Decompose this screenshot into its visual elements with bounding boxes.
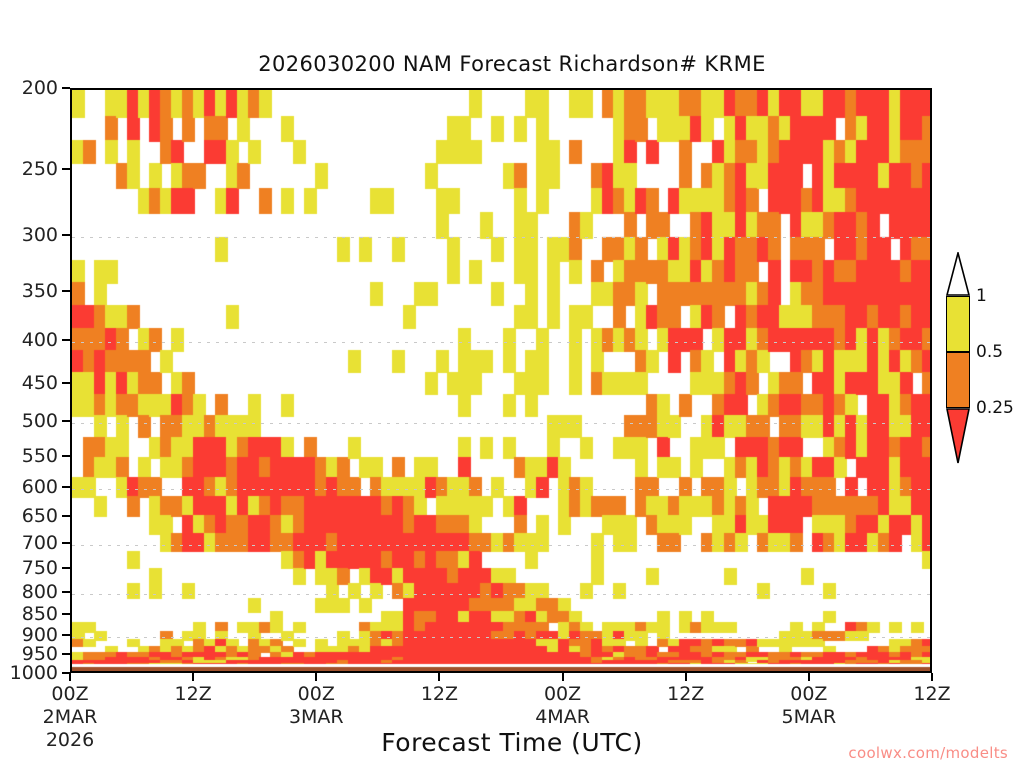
gridline bbox=[72, 594, 930, 595]
gridlines bbox=[72, 90, 930, 671]
y-tick-mark bbox=[62, 634, 70, 636]
y-tick-label: 350 bbox=[22, 280, 58, 302]
y-tick-label: 800 bbox=[22, 581, 58, 603]
y-tick-mark bbox=[62, 515, 70, 517]
y-tick-mark bbox=[62, 613, 70, 615]
x-tick-date: 4MAR bbox=[535, 706, 590, 728]
x-tick-label: 12Z bbox=[421, 683, 458, 705]
y-tick-mark bbox=[62, 168, 70, 170]
x-tick-mark bbox=[315, 673, 317, 681]
x-tick-mark bbox=[562, 673, 564, 681]
y-tick-label: 850 bbox=[22, 603, 58, 625]
x-tick-mark bbox=[438, 673, 440, 681]
y-axis: 2002503003504004505005506006507007508008… bbox=[0, 88, 70, 673]
x-tick-mark bbox=[69, 673, 71, 681]
y-tick-mark bbox=[62, 455, 70, 457]
colorbar-tick-label: 0.25 bbox=[976, 398, 1014, 418]
x-tick-mark bbox=[192, 673, 194, 681]
y-tick-mark bbox=[62, 542, 70, 544]
y-tick-label: 400 bbox=[22, 329, 58, 351]
y-tick-mark bbox=[62, 567, 70, 569]
gridline bbox=[72, 423, 930, 424]
colorbar-legend: 10.50.25 bbox=[946, 296, 970, 464]
y-tick-label: 750 bbox=[22, 557, 58, 579]
gridline bbox=[72, 489, 930, 490]
y-tick-label: 250 bbox=[22, 158, 58, 180]
y-tick-label: 700 bbox=[22, 532, 58, 554]
colorbar-arrow-top bbox=[946, 252, 970, 296]
y-tick-mark bbox=[62, 591, 70, 593]
x-tick-date: 5MAR bbox=[782, 706, 837, 728]
y-tick-label: 200 bbox=[22, 77, 58, 99]
chart-page: 2026030200 NAM Forecast Richardson# KRME… bbox=[0, 0, 1024, 768]
x-tick-label: 12Z bbox=[667, 683, 704, 705]
y-tick-label: 600 bbox=[22, 476, 58, 498]
colorbar-segment-yellow bbox=[946, 296, 970, 352]
x-tick-label: 12Z bbox=[175, 683, 212, 705]
gridline bbox=[72, 545, 930, 546]
y-tick-label: 300 bbox=[22, 224, 58, 246]
y-tick-mark bbox=[62, 87, 70, 89]
y-tick-mark bbox=[62, 339, 70, 341]
x-tick-label: 00Z bbox=[51, 683, 88, 705]
x-tick-date: 2MAR bbox=[43, 706, 98, 728]
x-tick-mark bbox=[808, 673, 810, 681]
gridline bbox=[72, 342, 930, 343]
plot-area bbox=[70, 88, 932, 673]
gridline bbox=[72, 637, 930, 638]
x-tick-mark bbox=[931, 673, 933, 681]
x-tick-label: 00Z bbox=[298, 683, 335, 705]
x-tick-mark bbox=[685, 673, 687, 681]
colorbar-arrow-bottom bbox=[946, 408, 970, 464]
gridline bbox=[72, 237, 930, 238]
y-tick-mark bbox=[62, 234, 70, 236]
page-title: 2026030200 NAM Forecast Richardson# KRME bbox=[0, 52, 1024, 76]
watermark: coolwx.com/modelts bbox=[848, 744, 1008, 762]
y-tick-mark bbox=[62, 420, 70, 422]
y-tick-mark bbox=[62, 653, 70, 655]
x-tick-date: 3MAR bbox=[289, 706, 344, 728]
y-tick-label: 550 bbox=[22, 445, 58, 467]
y-tick-mark bbox=[62, 290, 70, 292]
x-tick-label: 00Z bbox=[790, 683, 827, 705]
y-tick-label: 650 bbox=[22, 505, 58, 527]
colorbar-segment-orange bbox=[946, 352, 970, 408]
x-tick-label: 00Z bbox=[544, 683, 581, 705]
x-tick-label: 12Z bbox=[913, 683, 950, 705]
y-tick-mark bbox=[62, 382, 70, 384]
colorbar-tick-label: 0.5 bbox=[976, 342, 1003, 362]
y-tick-mark bbox=[62, 486, 70, 488]
y-tick-label: 450 bbox=[22, 372, 58, 394]
colorbar-tick-label: 1 bbox=[976, 286, 987, 306]
y-tick-label: 500 bbox=[22, 410, 58, 432]
y-tick-label: 1000 bbox=[10, 662, 58, 684]
